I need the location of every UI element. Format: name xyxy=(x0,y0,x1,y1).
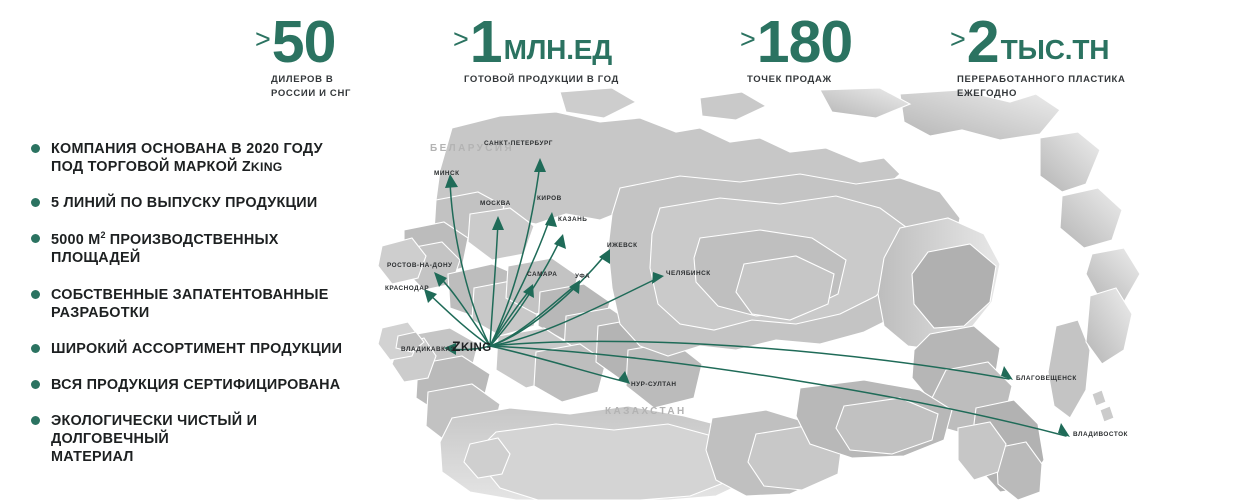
stat-points-value: > 180 xyxy=(740,18,852,66)
country-label-kazakhstan: КАЗАХСТАН xyxy=(605,407,687,417)
list-item-line1: КОМПАНИЯ ОСНОВАНА В 2020 ГОДУ xyxy=(51,141,323,157)
bullet-dot-icon xyxy=(31,380,40,389)
bullet-dot-icon xyxy=(31,416,40,425)
list-item-text: 5 ЛИНИЙ ПО ВЫПУСКУ ПРОДУКЦИИ xyxy=(51,194,378,212)
stat-recycled-unit: ТЫС.ТН xyxy=(1001,36,1110,64)
stat-points-number: 180 xyxy=(757,18,852,66)
greater-than-icon: > xyxy=(950,26,966,53)
stat-dealers-caption: ДИЛЕРОВ В РОССИИ И СНГ xyxy=(271,73,351,100)
stats-row: > 50 ДИЛЕРОВ В РОССИИ И СНГ > 1 МЛН.ЕД Г… xyxy=(0,0,1250,110)
list-item-line1: СОБСТВЕННЫЕ ЗАПАТЕНТОВАННЫЕ xyxy=(51,287,329,303)
list-item: ЭКОЛОГИЧЕСКИ ЧИСТЫЙ И ДОЛГОВЕЧНЫЙМАТЕРИА… xyxy=(28,412,378,466)
arrowhead-kazan xyxy=(554,234,566,249)
bullet-dot-icon xyxy=(31,198,40,207)
stat-output-value: > 1 МЛН.ЕД xyxy=(453,18,619,66)
hub-label-z: Z xyxy=(452,338,461,354)
list-item: КОМПАНИЯ ОСНОВАНА В 2020 ГОДУПОД ТОРГОВО… xyxy=(28,140,378,176)
stat-recycled-caption: ПЕРЕРАБОТАННОГО ПЛАСТИКА ЕЖЕГОДНО xyxy=(957,73,1126,100)
city-label-moscow: МОСКВА xyxy=(480,201,511,207)
infographic-root: БЕЛАРУСИЯ КАЗАХСТАН САНКТ-ПЕТЕРБУРГ МИНС… xyxy=(0,0,1250,500)
list-item: СОБСТВЕННЫЕ ЗАПАТЕНТОВАННЫЕРАЗРАБОТКИ xyxy=(28,286,378,322)
bullet-dot-icon xyxy=(31,344,40,353)
city-label-ufa: УФА xyxy=(575,274,590,280)
stat-output-caption: ГОТОВОЙ ПРОДУКЦИИ В ГОД xyxy=(464,73,619,86)
list-item-line1: ПРОИЗВОДСТВЕННЫХ xyxy=(106,232,279,248)
bullet-dot-icon xyxy=(31,144,40,153)
bullet-dot-icon xyxy=(31,234,40,243)
list-item-line2: ПОД ТОРГОВОЙ МАРКОЙ xyxy=(51,159,242,175)
hub-label-zking: ZKING xyxy=(452,339,492,355)
list-item-text: ВСЯ ПРОДУКЦИЯ СЕРТИФИЦИРОВАНА xyxy=(51,376,378,394)
list-item-line2: ПЛОЩАДЕЙ xyxy=(51,250,140,266)
stat-dealers-number: 50 xyxy=(272,18,336,66)
stat-output-number: 1 xyxy=(470,18,502,66)
list-item-text: ШИРОКИЙ АССОРТИМЕНТ ПРОДУКЦИИ xyxy=(51,340,378,358)
list-item-line2: РАЗРАБОТКИ xyxy=(51,305,149,321)
greater-than-icon: > xyxy=(255,26,271,53)
list-item-text: ЭКОЛОГИЧЕСКИ ЧИСТЫЙ И ДОЛГОВЕЧНЫЙМАТЕРИА… xyxy=(51,412,378,466)
stat-output-unit: МЛН.ЕД xyxy=(504,36,612,64)
stat-recycled-value: > 2 ТЫС.ТН xyxy=(950,18,1126,66)
stat-recycled-plastic: > 2 ТЫС.ТН ПЕРЕРАБОТАННОГО ПЛАСТИКА ЕЖЕГ… xyxy=(950,18,1126,100)
city-label-saint-petersburg: САНКТ-ПЕТЕРБУРГ xyxy=(484,141,553,147)
brand-king: KING xyxy=(251,160,283,174)
stat-points-caption: ТОЧЕК ПРОДАЖ xyxy=(747,73,852,86)
city-label-minsk: МИНСК xyxy=(434,171,460,177)
area-value: 5000 М xyxy=(51,232,101,248)
list-item-text: 5000 М2 ПРОИЗВОДСТВЕННЫХПЛОЩАДЕЙ xyxy=(51,230,378,267)
city-label-kirov: КИРОВ xyxy=(537,196,562,202)
city-label-vladikavkaz: ВЛАДИКАВКАЗ xyxy=(401,347,455,353)
city-label-kazan: КАЗАНЬ xyxy=(558,217,587,223)
list-item: 5000 М2 ПРОИЗВОДСТВЕННЫХПЛОЩАДЕЙ xyxy=(28,230,378,267)
city-label-izhevsk: ИЖЕВСК xyxy=(607,243,638,249)
list-item-line1: ЭКОЛОГИЧЕСКИ ЧИСТЫЙ И ДОЛГОВЕЧНЫЙ xyxy=(51,413,257,447)
city-label-chelyabinsk: ЧЕЛЯБИНСК xyxy=(666,271,711,277)
greater-than-icon: > xyxy=(453,26,469,53)
city-label-blagoveshchensk: БЛАГОВЕЩЕНСК xyxy=(1016,376,1077,382)
hub-label-king: KING xyxy=(461,342,492,354)
list-item: 5 ЛИНИЙ ПО ВЫПУСКУ ПРОДУКЦИИ xyxy=(28,194,378,212)
stat-dealers-value: > 50 xyxy=(255,18,351,66)
city-label-krasnodar: КРАСНОДАР xyxy=(385,286,429,292)
city-label-vladivostok: ВЛАДИВОСТОК xyxy=(1073,432,1128,438)
brand-z: Z xyxy=(242,159,251,175)
features-list: КОМПАНИЯ ОСНОВАНА В 2020 ГОДУПОД ТОРГОВО… xyxy=(28,140,378,466)
list-item-line2: МАТЕРИАЛ xyxy=(51,449,134,465)
stat-points-of-sale: > 180 ТОЧЕК ПРОДАЖ xyxy=(740,18,852,87)
city-label-samara: САМАРА xyxy=(527,272,557,278)
city-label-nur-sultan: НУР-СУЛТАН xyxy=(631,382,676,388)
list-item: ВСЯ ПРОДУКЦИЯ СЕРТИФИЦИРОВАНА xyxy=(28,376,378,394)
stat-dealers: > 50 ДИЛЕРОВ В РОССИИ И СНГ xyxy=(255,18,351,100)
greater-than-icon: > xyxy=(740,26,756,53)
arrowhead-izhevsk xyxy=(599,249,610,264)
list-item-text: СОБСТВЕННЫЕ ЗАПАТЕНТОВАННЫЕРАЗРАБОТКИ xyxy=(51,286,378,322)
stat-recycled-number: 2 xyxy=(967,18,999,66)
list-item-text: КОМПАНИЯ ОСНОВАНА В 2020 ГОДУПОД ТОРГОВО… xyxy=(51,140,378,176)
bullet-dot-icon xyxy=(31,290,40,299)
stat-output: > 1 МЛН.ЕД ГОТОВОЙ ПРОДУКЦИИ В ГОД xyxy=(453,18,619,87)
city-label-rostov-on-don: РОСТОВ-НА-ДОНУ xyxy=(387,263,453,269)
list-item: ШИРОКИЙ АССОРТИМЕНТ ПРОДУКЦИИ xyxy=(28,340,378,358)
